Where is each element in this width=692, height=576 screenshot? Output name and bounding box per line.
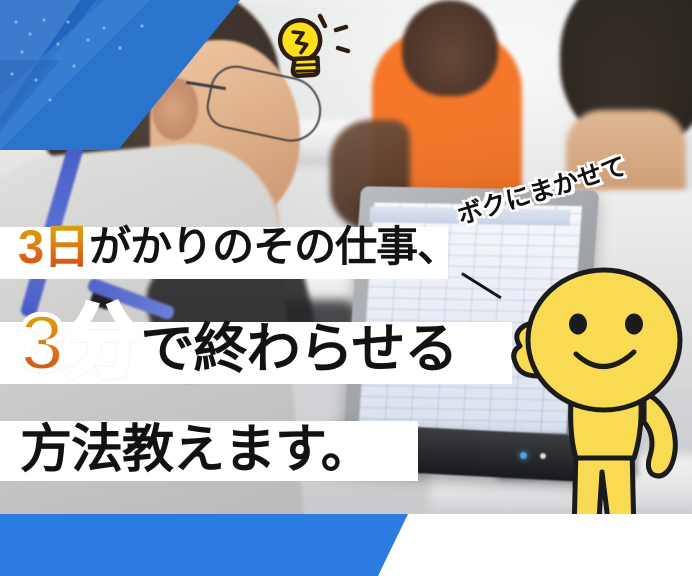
blue-corner-graphic bbox=[0, 0, 240, 180]
headline-line-2: 3分 で終わらせる bbox=[20, 302, 457, 384]
headline-line1-number: 3日 bbox=[18, 222, 89, 272]
yellow-mascot-character bbox=[498, 236, 692, 546]
headline-line2-number: 3分 bbox=[20, 302, 141, 384]
headline-line1-text: がかりのその仕事、 bbox=[89, 222, 458, 272]
headline-line2-text: で終わらせる bbox=[141, 314, 458, 384]
cta-bar-blue-shape[interactable] bbox=[0, 514, 692, 576]
headline-line3-text: 方法教えます。 bbox=[20, 420, 372, 480]
cta-bar[interactable]: お試し版無料動画講座 詳しくはこちら bbox=[0, 514, 692, 576]
headline-line-1: 3日 がかりのその仕事、 bbox=[18, 222, 458, 272]
lightbulb-icon bbox=[258, 4, 354, 84]
headline-line-3: 方法教えます。 bbox=[20, 420, 372, 480]
ad-banner[interactable]: ボクにまかせて 3日 がかりのその仕事、 bbox=[0, 0, 692, 576]
